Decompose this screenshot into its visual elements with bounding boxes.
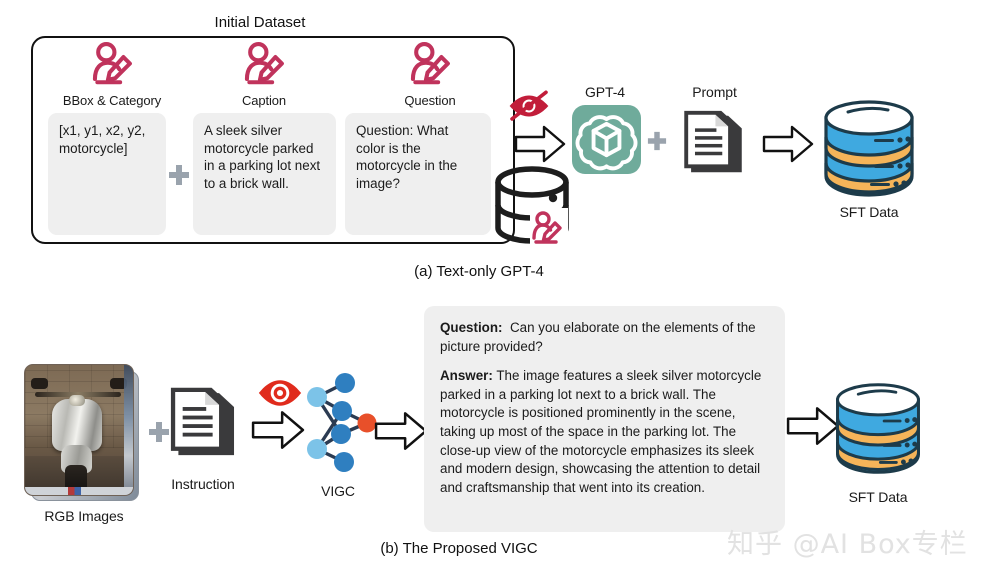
photo-mirror-left — [31, 378, 48, 389]
watermark: 知乎 @AI Box专栏 — [727, 522, 968, 561]
motorcycle-photo — [24, 364, 144, 506]
database-stack-icon-b — [830, 378, 926, 480]
card-bbox-text: [x1, y1, x2, y2, motorcycle] — [59, 123, 145, 156]
caption-panel-b: (b) The Proposed VIGC — [279, 540, 639, 557]
photo-headlight — [69, 395, 85, 406]
photo-right-edge — [124, 365, 133, 495]
figure-root: Initial Dataset BBox & Category [x1, y1,… — [0, 0, 983, 577]
photo-front — [24, 364, 134, 496]
label-vigc: VIGC — [293, 483, 383, 499]
qa-answer-text: The image features a sleek silver motorc… — [440, 368, 761, 495]
label-gpt4: GPT-4 — [540, 84, 670, 100]
eye-icon — [258, 378, 302, 408]
database-annotation-icon — [487, 165, 577, 253]
annotator-pencil-icon-question — [404, 40, 456, 92]
plus-icon-a-1 — [168, 164, 190, 186]
card-caption: A sleek silver motorcycle parked in a pa… — [193, 113, 336, 235]
neural-network-icon — [297, 371, 381, 475]
label-sft-data-b: SFT Data — [818, 489, 938, 505]
photo-bottom-strip — [25, 487, 133, 495]
card-caption-text: A sleek silver motorcycle parked in a pa… — [204, 123, 320, 191]
label-rgb-images: RGB Images — [16, 508, 152, 524]
qa-spacer — [440, 356, 769, 367]
label-instruction: Instruction — [140, 476, 266, 492]
panel-a-title: Initial Dataset — [0, 14, 520, 31]
qa-question-label: Question: — [440, 320, 503, 335]
qa-answer-line: Answer: The image features a sleek silve… — [440, 367, 769, 497]
documents-icon-prompt — [671, 104, 756, 180]
plus-icon-a-2 — [647, 131, 667, 151]
annotator-pencil-icon-bbox — [86, 40, 138, 92]
qa-output-card: Question: Can you elaborate on the eleme… — [424, 306, 785, 532]
card-question: Question: What color is the motorcycle i… — [345, 113, 491, 235]
label-prompt: Prompt — [652, 84, 777, 100]
label-bbox-category: BBox & Category — [42, 93, 182, 108]
label-caption: Caption — [194, 93, 334, 108]
caption-panel-a: (a) Text-only GPT-4 — [299, 263, 659, 280]
card-bbox-category: [x1, y1, x2, y2, motorcycle] — [48, 113, 166, 235]
database-stack-icon-a — [818, 95, 920, 203]
arrow-icon-a1 — [514, 124, 566, 169]
label-question: Question — [360, 93, 500, 108]
arrow-icon-a2 — [762, 124, 814, 169]
openai-logo-icon — [572, 105, 641, 174]
qa-question-line: Question: Can you elaborate on the eleme… — [440, 319, 769, 356]
qa-answer-label: Answer: — [440, 368, 493, 383]
photo-scooter-body — [52, 399, 102, 451]
label-sft-data-a: SFT Data — [809, 204, 929, 220]
card-question-text: Question: What color is the motorcycle i… — [356, 123, 457, 191]
arrow-icon-b2 — [374, 410, 428, 457]
documents-icon-instruction — [157, 380, 249, 464]
annotator-pencil-icon-caption — [238, 40, 290, 92]
